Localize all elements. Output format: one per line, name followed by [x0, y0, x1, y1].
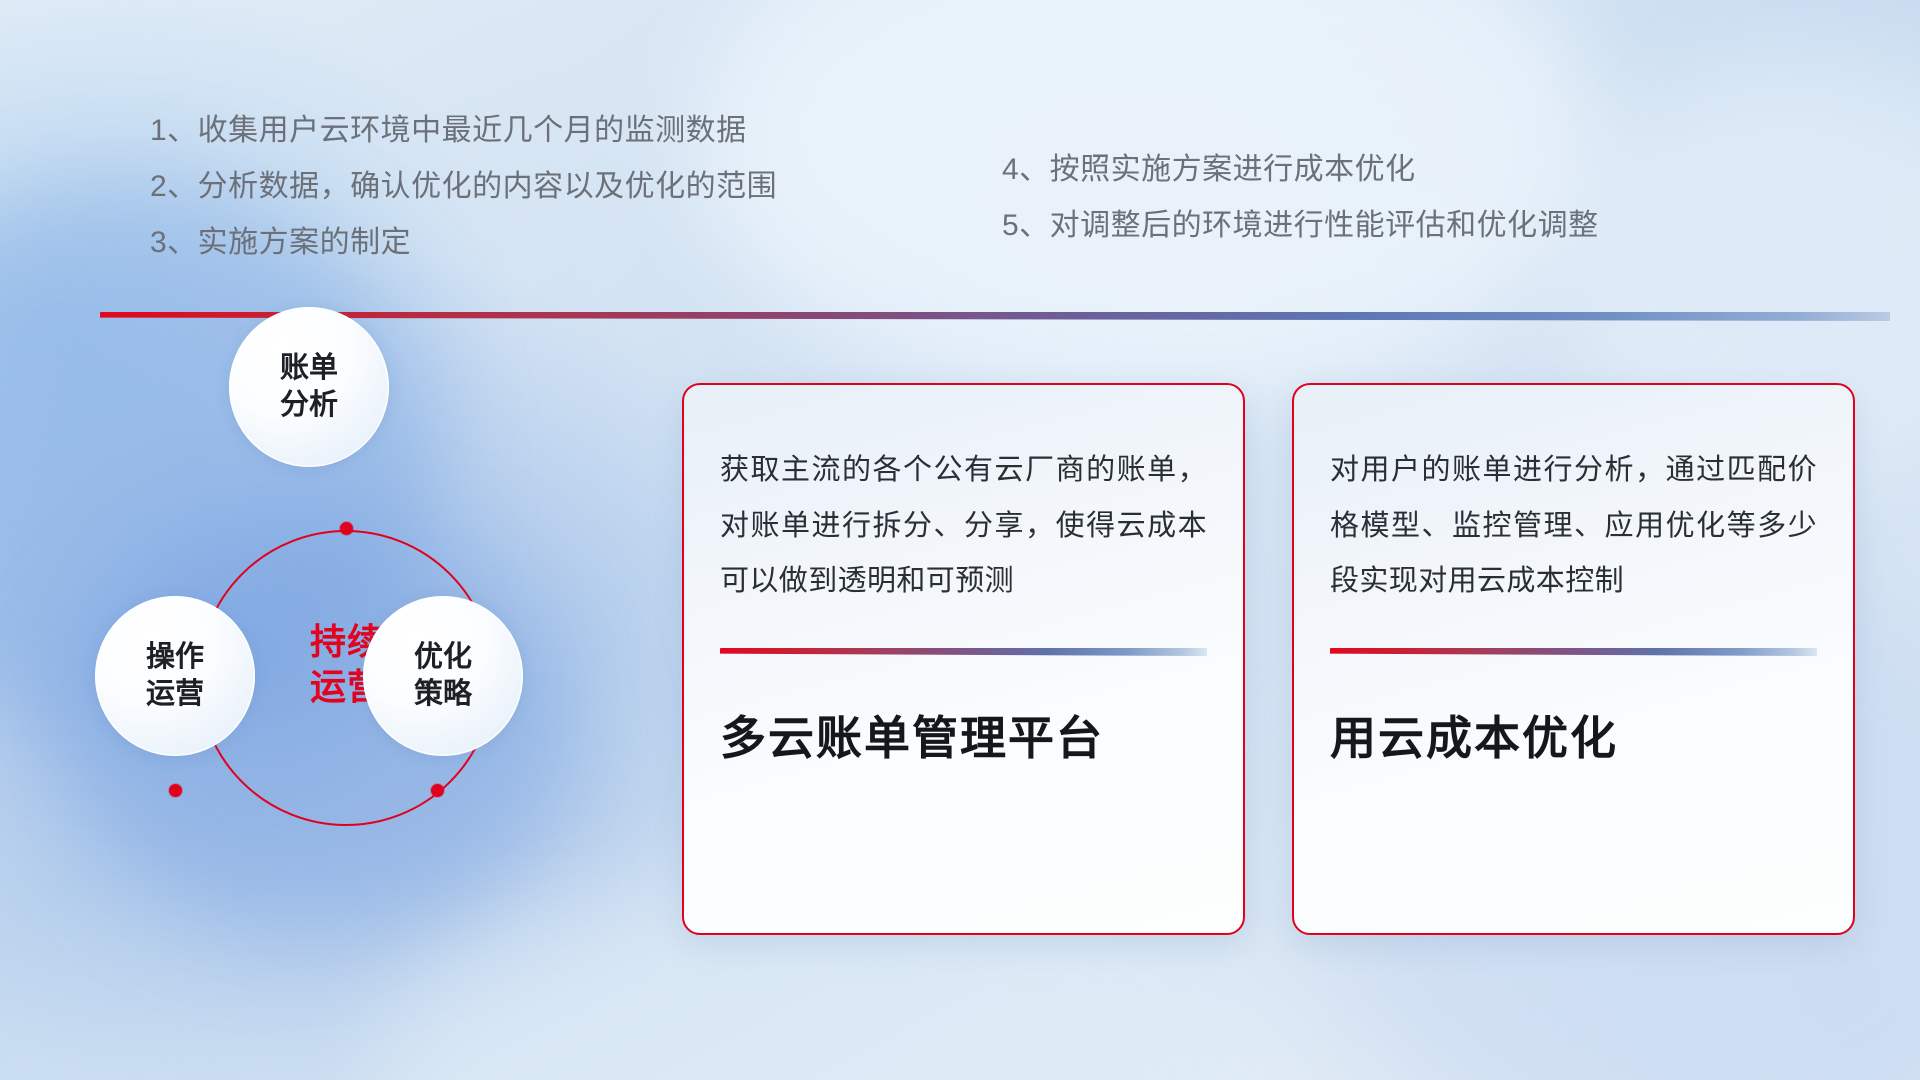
feature-card-divider — [720, 648, 1207, 656]
section-divider-rule — [100, 312, 1890, 321]
diagram-node-label-line1: 账单 — [280, 350, 338, 387]
list-item: 4、按照实施方案进行成本优化 — [1002, 155, 1599, 185]
slide-canvas: 1、收集用户云环境中最近几个月的监测数据 2、分析数据，确认优化的内容以及优化的… — [0, 0, 1920, 1080]
diagram-node-label-line2: 运营 — [146, 676, 204, 713]
steps-list-left: 1、收集用户云环境中最近几个月的监测数据 2、分析数据，确认优化的内容以及优化的… — [150, 116, 777, 258]
list-item: 2、分析数据，确认优化的内容以及优化的范围 — [150, 172, 777, 202]
diagram-node-dot — [169, 784, 182, 797]
feature-card-multicloud-billing[interactable]: 获取主流的各个公有云厂商的账单，对账单进行拆分、分享，使得云成本可以做到透明和可… — [682, 383, 1245, 935]
diagram-node-dot — [340, 522, 353, 535]
diagram-node-optimization-strategy[interactable]: 优化 策略 — [363, 596, 523, 756]
steps-list-right: 4、按照实施方案进行成本优化 5、对调整后的环境进行性能评估和优化调整 — [1002, 155, 1599, 241]
diagram-node-label-line1: 操作 — [146, 639, 204, 676]
feature-card-body: 获取主流的各个公有云厂商的账单，对账单进行拆分、分享，使得云成本可以做到透明和可… — [720, 443, 1207, 610]
diagram-node-label-line2: 策略 — [414, 676, 472, 713]
diagram-node-label-line1: 优化 — [414, 639, 472, 676]
diagram-node-label-line2: 分析 — [280, 387, 338, 424]
feature-card-divider — [1330, 648, 1817, 656]
diagram-node-operations[interactable]: 操作 运营 — [95, 596, 255, 756]
list-item: 3、实施方案的制定 — [150, 228, 777, 258]
list-item: 1、收集用户云环境中最近几个月的监测数据 — [150, 116, 777, 146]
feature-card-title: 多云账单管理平台 — [720, 702, 1207, 768]
diagram-node-bill-analysis[interactable]: 账单 分析 — [229, 307, 389, 467]
feature-card-cloud-cost-optimization[interactable]: 对用户的账单进行分析，通过匹配价格模型、监控管理、应用优化等多少段实现对用云成本… — [1292, 383, 1855, 935]
list-item: 5、对调整后的环境进行性能评估和优化调整 — [1002, 211, 1599, 241]
feature-card-body: 对用户的账单进行分析，通过匹配价格模型、监控管理、应用优化等多少段实现对用云成本… — [1330, 443, 1817, 610]
feature-card-title: 用云成本优化 — [1330, 702, 1817, 768]
diagram-node-dot — [431, 784, 444, 797]
continuous-operation-diagram: 持续 运营 账单 分析 操作 运营 优化 策略 — [95, 355, 635, 915]
